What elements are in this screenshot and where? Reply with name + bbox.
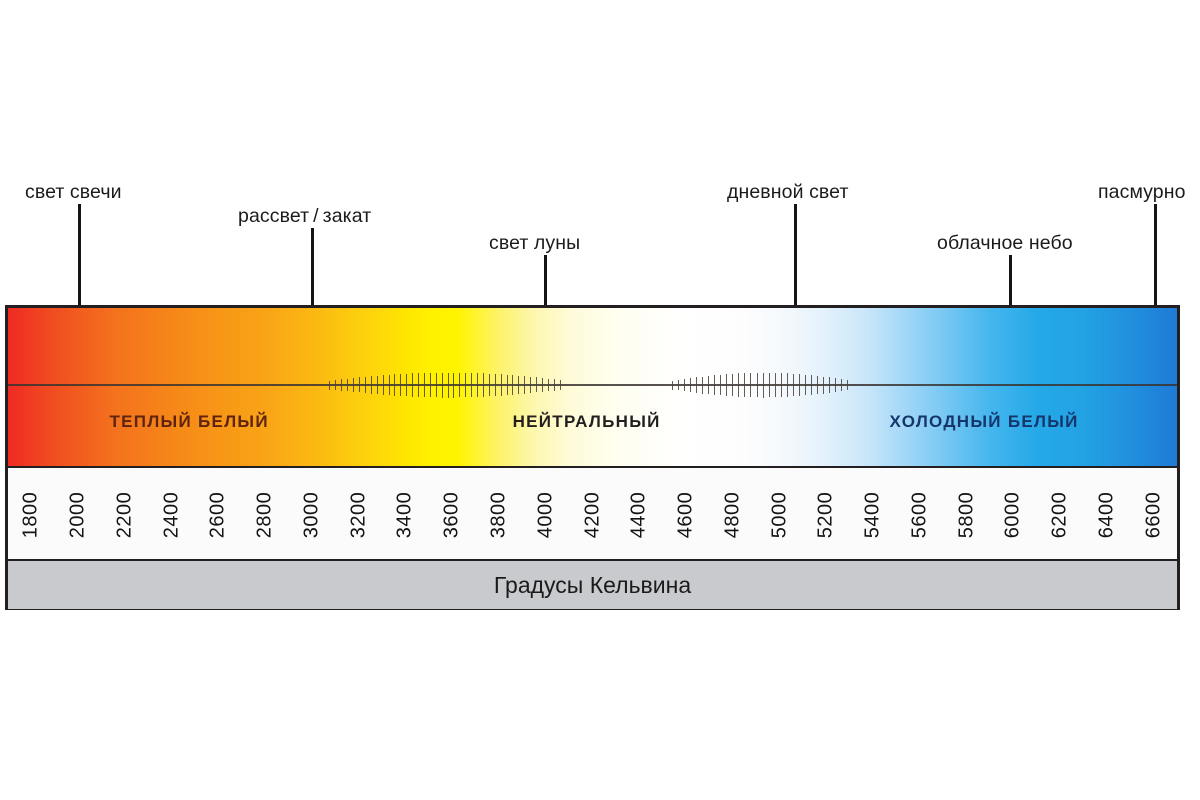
tick-mark	[805, 375, 806, 396]
tick-mark	[412, 373, 413, 396]
tick-mark	[548, 379, 549, 392]
tick-mark	[371, 376, 372, 393]
callout-label: пасмурно	[1098, 181, 1186, 204]
kelvin-tick-label: 3800	[487, 491, 510, 538]
tick-mark	[400, 374, 401, 396]
tick-mark	[763, 373, 764, 398]
tick-mark	[394, 374, 395, 395]
tick-mark	[536, 377, 537, 392]
tick-mark	[841, 379, 842, 391]
kelvin-tick-label: 2600	[207, 491, 230, 538]
tick-mark	[341, 379, 342, 391]
tick-mark	[817, 376, 818, 394]
tick-mark	[465, 373, 466, 398]
callout-label: свет свечи	[25, 181, 122, 204]
kelvin-tick-label: 5400	[862, 491, 885, 538]
band-divider	[8, 384, 1177, 386]
tick-mark	[787, 373, 788, 397]
tick-mark	[365, 377, 366, 393]
tick-mark	[672, 381, 673, 390]
temperature-scale-panel: ТЕПЛЫЙ БЕЛЫЙНЕЙТРАЛЬНЫЙХОЛОДНЫЙ БЕЛЫЙ 18…	[5, 305, 1180, 610]
tick-mark	[714, 375, 715, 395]
tick-cluster-1	[672, 368, 853, 402]
tick-mark	[799, 374, 800, 396]
tick-mark	[353, 378, 354, 392]
tick-mark	[518, 376, 519, 394]
tick-mark	[377, 376, 378, 394]
callout-label: рассвет / закат	[238, 205, 371, 228]
tick-mark	[811, 375, 812, 395]
tick-mark	[448, 373, 449, 398]
tick-mark	[757, 373, 758, 398]
kelvin-tick-label: 4200	[581, 491, 604, 538]
tick-mark	[823, 377, 824, 394]
tick-mark	[726, 374, 727, 396]
tick-mark	[530, 377, 531, 393]
callout-label: свет луны	[489, 232, 580, 255]
callout-label: дневной свет	[727, 181, 849, 204]
kelvin-tick-label: 4800	[721, 491, 744, 538]
tick-mark	[483, 373, 484, 396]
kelvin-tick-label: 2000	[67, 491, 90, 538]
kelvin-tick-label: 6600	[1142, 491, 1165, 538]
tick-mark	[389, 375, 390, 395]
kelvin-tick-label: 5600	[908, 491, 931, 538]
tick-mark	[708, 376, 709, 394]
tick-mark	[424, 373, 425, 397]
band-label-1: НЕЙТРАЛЬНЫЙ	[513, 412, 661, 432]
kelvin-tick-label: 6000	[1002, 491, 1025, 538]
tick-mark	[495, 374, 496, 396]
tick-mark	[430, 373, 431, 398]
gradient-band: ТЕПЛЫЙ БЕЛЫЙНЕЙТРАЛЬНЫЙХОЛОДНЫЙ БЕЛЫЙ	[8, 308, 1177, 466]
kelvin-tick-label: 2200	[113, 491, 136, 538]
tick-mark	[471, 373, 472, 397]
tick-mark	[684, 379, 685, 391]
tick-mark	[347, 379, 348, 392]
kelvin-tick-label: 2800	[254, 491, 277, 538]
tick-mark	[769, 373, 770, 398]
kelvin-tick-label: 5000	[768, 491, 791, 538]
tick-mark	[359, 377, 360, 392]
kelvin-tick-label: 5200	[815, 491, 838, 538]
tick-cluster-0	[329, 368, 565, 402]
tick-mark	[418, 373, 419, 397]
kelvin-footer-bar: Градусы Кельвина	[8, 559, 1177, 609]
tick-mark	[835, 378, 836, 392]
kelvin-tick-label: 6400	[1095, 491, 1118, 538]
band-label-0: ТЕПЛЫЙ БЕЛЫЙ	[109, 412, 268, 432]
tick-mark	[507, 375, 508, 395]
tick-mark	[738, 373, 739, 397]
kelvin-scale: 1800200022002400260028003000320034003600…	[8, 466, 1177, 561]
kelvin-tick-label: 5800	[955, 491, 978, 538]
tick-mark	[383, 375, 384, 394]
tick-mark	[406, 374, 407, 397]
tick-mark	[512, 375, 513, 394]
tick-mark	[775, 373, 776, 398]
kelvin-tick-label: 3200	[347, 491, 370, 538]
kelvin-tick-label: 3600	[441, 491, 464, 538]
tick-mark	[477, 373, 478, 397]
tick-mark	[554, 379, 555, 391]
kelvin-tick-label: 4000	[534, 491, 557, 538]
kelvin-tick-label: 3000	[300, 491, 323, 538]
tick-mark	[560, 380, 561, 390]
kelvin-tick-label: 4400	[628, 491, 651, 538]
tick-mark	[847, 380, 848, 391]
tick-mark	[702, 377, 703, 394]
tick-mark	[442, 373, 443, 398]
tick-mark	[501, 374, 502, 395]
tick-mark	[732, 374, 733, 397]
tick-mark	[793, 374, 794, 397]
kelvin-tick-label: 1800	[20, 491, 43, 538]
tick-mark	[678, 380, 679, 391]
color-temperature-chart: свет свечирассвет / закатсвет луныдневно…	[0, 0, 1200, 800]
kelvin-tick-label: 2400	[160, 491, 183, 538]
callout-label: облачное небо	[937, 232, 1073, 255]
tick-mark	[781, 373, 782, 397]
tick-mark	[489, 374, 490, 397]
kelvin-tick-label: 6200	[1049, 491, 1072, 538]
tick-mark	[690, 378, 691, 392]
band-label-2: ХОЛОДНЫЙ БЕЛЫЙ	[890, 412, 1079, 432]
tick-mark	[524, 376, 525, 393]
tick-mark	[829, 377, 830, 393]
tick-mark	[436, 373, 437, 398]
tick-mark	[335, 380, 336, 390]
kelvin-tick-label: 4600	[675, 491, 698, 538]
kelvin-footer-label: Градусы Кельвина	[494, 572, 691, 599]
tick-mark	[459, 373, 460, 398]
tick-mark	[720, 375, 721, 396]
tick-mark	[542, 378, 543, 392]
tick-mark	[329, 381, 330, 390]
tick-mark	[744, 373, 745, 397]
kelvin-tick-label: 3400	[394, 491, 417, 538]
tick-mark	[453, 373, 454, 398]
tick-mark	[750, 373, 751, 398]
tick-mark	[696, 377, 697, 393]
